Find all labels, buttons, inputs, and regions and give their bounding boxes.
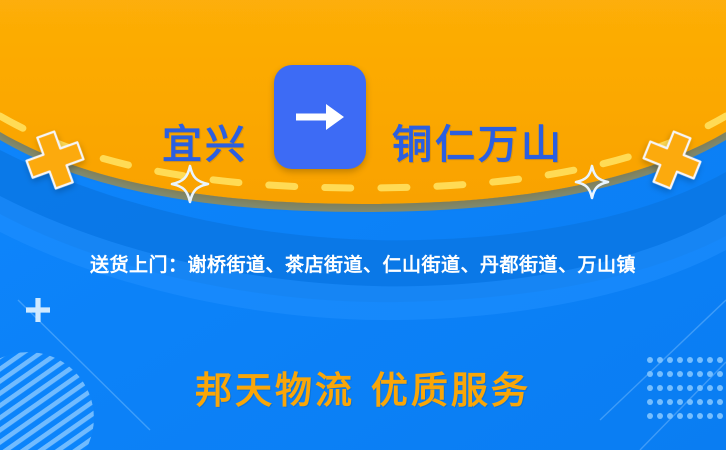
company-slogan: 邦天物流 优质服务 (0, 360, 726, 414)
route-header: 宜兴 铜仁万山 (0, 62, 726, 172)
arrow-right-icon (292, 97, 348, 137)
blue-wave-dark (0, 150, 726, 302)
plus-left-icon (26, 298, 50, 322)
logistics-route-banner: 宜兴 铜仁万山 送货上门：谢桥街道、茶店街道、仁山街道、丹都街道、万山镇 邦天物… (0, 0, 726, 450)
destination-city: 铜仁万山 (392, 125, 564, 165)
route-arrow-button[interactable] (274, 65, 366, 169)
delivery-areas-text: 送货上门：谢桥街道、茶店街道、仁山街道、丹都街道、万山镇 (0, 250, 726, 277)
origin-city: 宜兴 (162, 125, 248, 165)
